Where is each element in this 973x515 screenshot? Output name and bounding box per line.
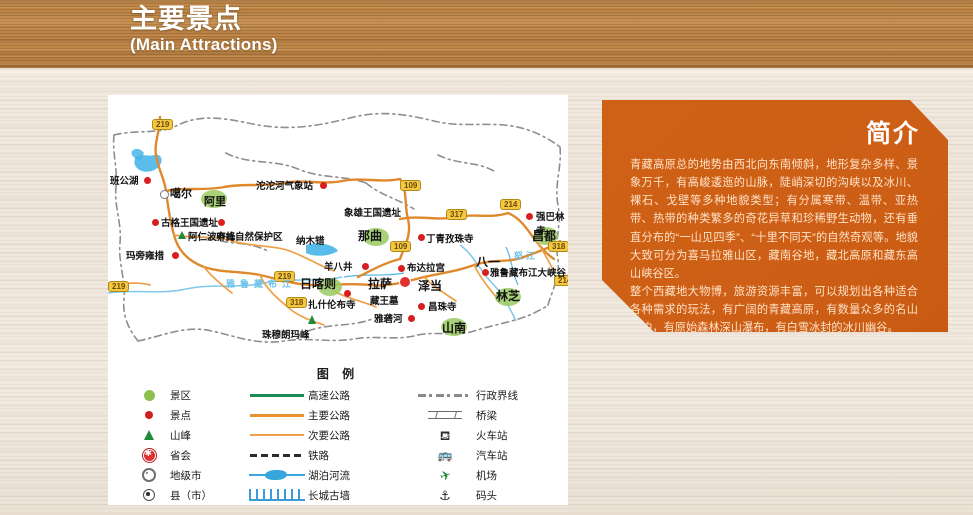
- attraction-dot-icon: [128, 411, 170, 419]
- route-shield: 317: [446, 209, 467, 220]
- place-label-zhashilunbusi: 扎什伦布寺: [308, 297, 356, 311]
- map-legend: 图 例 景区 景点 山峰: [108, 363, 568, 505]
- legend-label: 行政界线: [476, 388, 518, 403]
- place-label-naqu: 那曲: [358, 227, 382, 244]
- main-road-line-icon: [246, 414, 308, 417]
- route-shield: 109: [390, 241, 411, 252]
- airport-icon: ✈: [414, 469, 476, 482]
- attraction-dot: [418, 234, 425, 241]
- legend-label: 高速公路: [308, 388, 350, 403]
- legend-item-train-station[interactable]: ⛾ 火车站: [414, 426, 568, 444]
- attraction-dot: [398, 265, 405, 272]
- legend-label: 省会: [170, 448, 191, 463]
- legend-item-admin-boundary[interactable]: 行政界线: [414, 386, 568, 404]
- legend-item-prefecture-city[interactable]: 地级市: [128, 466, 246, 484]
- legend-item-railway[interactable]: 铁路: [246, 446, 414, 464]
- legend-column-lines: 高速公路 主要公路 次要公路 铁路: [246, 386, 414, 504]
- route-shield: 219: [108, 281, 129, 292]
- prefecture-city-icon: [128, 468, 170, 482]
- river-label: 雅鲁藏布江: [226, 277, 296, 290]
- legend-label: 景点: [170, 408, 191, 423]
- place-label-shannan: 山南: [442, 319, 466, 336]
- route-shield: 318: [286, 297, 307, 308]
- legend-item-bridge[interactable]: 桥梁: [414, 406, 568, 424]
- attraction-dot: [218, 219, 225, 226]
- place-label-yaluzangbujiangdaxiagu: 雅鲁藏布江大峡谷: [490, 265, 566, 279]
- legend-item-county-city[interactable]: 县（市）: [128, 486, 246, 504]
- expressway-line-icon: [246, 394, 308, 397]
- prefecture-city-icon: [160, 190, 169, 199]
- intro-paragraph: 青藏高原总的地势由西北向东南倾斜，地形复杂多样、景象万千，有高峻逶迤的山脉，陡峭…: [630, 156, 918, 283]
- attraction-dot: [408, 315, 415, 322]
- place-label-bangongcuo: 班公湖: [110, 173, 139, 187]
- legend-item-secondary-road[interactable]: 次要公路: [246, 426, 414, 444]
- legend-item-bus-station[interactable]: 🚌 汽车站: [414, 446, 568, 464]
- legend-item-airport[interactable]: ✈ 机场: [414, 466, 568, 484]
- legend-label: 铁路: [308, 448, 329, 463]
- mountain-peak-icon: [308, 315, 316, 324]
- legend-item-provincial-capital[interactable]: 省会: [128, 446, 246, 464]
- train-station-icon: ⛾: [414, 429, 476, 442]
- attraction-dot: [344, 290, 351, 297]
- place-label-gaer: 噶尔: [170, 185, 192, 201]
- attraction-dot: [526, 213, 533, 220]
- provincial-capital-icon: [128, 449, 170, 462]
- place-label-yangbajing: 羊八井: [324, 259, 353, 273]
- attraction-dot: [144, 177, 151, 184]
- legend-item-great-wall[interactable]: 长城古墙: [246, 486, 414, 504]
- legend-label: 火车站: [476, 428, 508, 443]
- legend-label: 湖泊河流: [308, 468, 350, 483]
- page-title: 主要景点 (Main Attractions): [130, 6, 277, 53]
- wood-seam-divider: [0, 68, 973, 74]
- river-label: 怒江: [514, 249, 538, 262]
- legend-label: 景区: [170, 388, 191, 403]
- attraction-dot: [482, 269, 489, 276]
- intro-panel-title: 简介: [866, 114, 920, 150]
- admin-boundary-line-icon: [414, 394, 476, 397]
- legend-item-attraction[interactable]: 景点: [128, 406, 246, 424]
- scenic-area-dot-icon: [128, 390, 170, 401]
- place-label-mapangyongcuo: 玛旁雍措: [126, 248, 164, 262]
- legend-label: 机场: [476, 468, 497, 483]
- place-label-rikaze: 日喀则: [300, 275, 336, 292]
- place-label-gugewangguoyizhi: 古格王国遗址: [161, 215, 218, 229]
- route-shield: 214: [500, 199, 521, 210]
- place-label-namucuo: 纳木错: [296, 233, 325, 247]
- intro-paragraph: 整个西藏地大物博，旅游资源丰富，可以规划出各种适合各种需求的玩法，有广阔的青藏高…: [630, 283, 918, 337]
- great-wall-line-icon: [246, 489, 308, 501]
- legend-column-points: 景区 景点 山峰 省会: [128, 386, 246, 504]
- harbor-icon: ⚓: [414, 489, 476, 502]
- place-label-changzhusi: 昌珠寺: [428, 299, 457, 313]
- attraction-dot: [152, 219, 159, 226]
- place-label-linzhi: 林芝: [496, 287, 520, 304]
- place-label-lasa: 拉萨: [368, 275, 392, 292]
- legend-label: 汽车站: [476, 448, 508, 463]
- secondary-road-line-icon: [246, 434, 308, 436]
- railway-line-icon: [246, 454, 308, 457]
- map-canvas[interactable]: .rd { fill:none; stroke:#e0892c; stroke-…: [108, 95, 568, 505]
- place-label-yalonghe: 雅砻河: [374, 311, 403, 325]
- legend-item-expressway[interactable]: 高速公路: [246, 386, 414, 404]
- page-title-cn: 主要景点: [130, 6, 277, 33]
- place-label-ali: 阿里: [204, 193, 226, 209]
- bus-station-icon: 🚌: [414, 449, 476, 462]
- page-root: 主要景点 (Main Attractions) .rd { fill:none;…: [0, 0, 973, 515]
- legend-label: 山峰: [170, 428, 191, 443]
- place-label-changdu: 昌都: [532, 227, 556, 244]
- route-shield: 219: [152, 119, 173, 130]
- attraction-dot: [320, 182, 327, 189]
- legend-label: 主要公路: [308, 408, 350, 423]
- map-card: .rd { fill:none; stroke:#e0892c; stroke-…: [108, 95, 568, 505]
- bridge-icon: [414, 410, 476, 421]
- mountain-peak-icon: [128, 430, 170, 440]
- legend-label: 地级市: [170, 468, 202, 483]
- intro-panel: 简介 青藏高原总的地势由西北向东南倾斜，地形复杂多样、景象万千，有高峻逶迤的山脉…: [602, 100, 948, 332]
- legend-label: 桥梁: [476, 408, 497, 423]
- attraction-dot: [172, 252, 179, 259]
- route-shield: 109: [400, 180, 421, 191]
- legend-label: 长城古墙: [308, 488, 350, 503]
- place-label-zedang: 泽当: [418, 277, 442, 294]
- legend-label: 次要公路: [308, 428, 350, 443]
- place-label-zhumulangmafeng: 珠穆朗玛峰: [262, 327, 310, 341]
- legend-item-scenic-area[interactable]: 景区: [128, 386, 246, 404]
- legend-label: 县（市）: [170, 488, 212, 503]
- legend-label: 码头: [476, 488, 497, 503]
- place-label-budalagong: 布达拉宫: [407, 260, 445, 274]
- lake-river-line-icon: [246, 469, 308, 481]
- legend-column-facilities: 行政界线 桥梁 ⛾ 火车站 🚌 汽车站: [414, 386, 568, 504]
- county-city-icon: [128, 489, 170, 501]
- legend-item-lake-river[interactable]: 湖泊河流: [246, 466, 414, 484]
- tibet-map-svg: .rd { fill:none; stroke:#e0892c; stroke-…: [108, 95, 568, 365]
- place-label-zangwangmu: 藏王墓: [370, 293, 399, 307]
- intro-panel-body: 青藏高原总的地势由西北向东南倾斜，地形复杂多样、景象万千，有高峻逶迤的山脉，陡峭…: [630, 156, 918, 337]
- attraction-dot: [362, 263, 369, 270]
- place-label-tuotuoheqixiangzhan: 沱沱河气象站: [256, 178, 313, 192]
- page-title-en: (Main Attractions): [130, 36, 277, 53]
- place-label-dingqingzizhusi: 丁青孜珠寺: [426, 231, 474, 245]
- legend-item-peak[interactable]: 山峰: [128, 426, 246, 444]
- place-label-xiangxiongwangguoyizhi: 象雄王国遗址: [344, 205, 401, 219]
- legend-item-harbor[interactable]: ⚓ 码头: [414, 486, 568, 504]
- legend-item-main-road[interactable]: 主要公路: [246, 406, 414, 424]
- place-label-shenzhaziranbaohuqu: 申扎自然保护区: [216, 229, 283, 243]
- mountain-peak-icon: [178, 231, 186, 239]
- legend-title: 图 例: [108, 363, 568, 382]
- attraction-dot: [418, 303, 425, 310]
- provincial-capital-icon: [400, 277, 410, 287]
